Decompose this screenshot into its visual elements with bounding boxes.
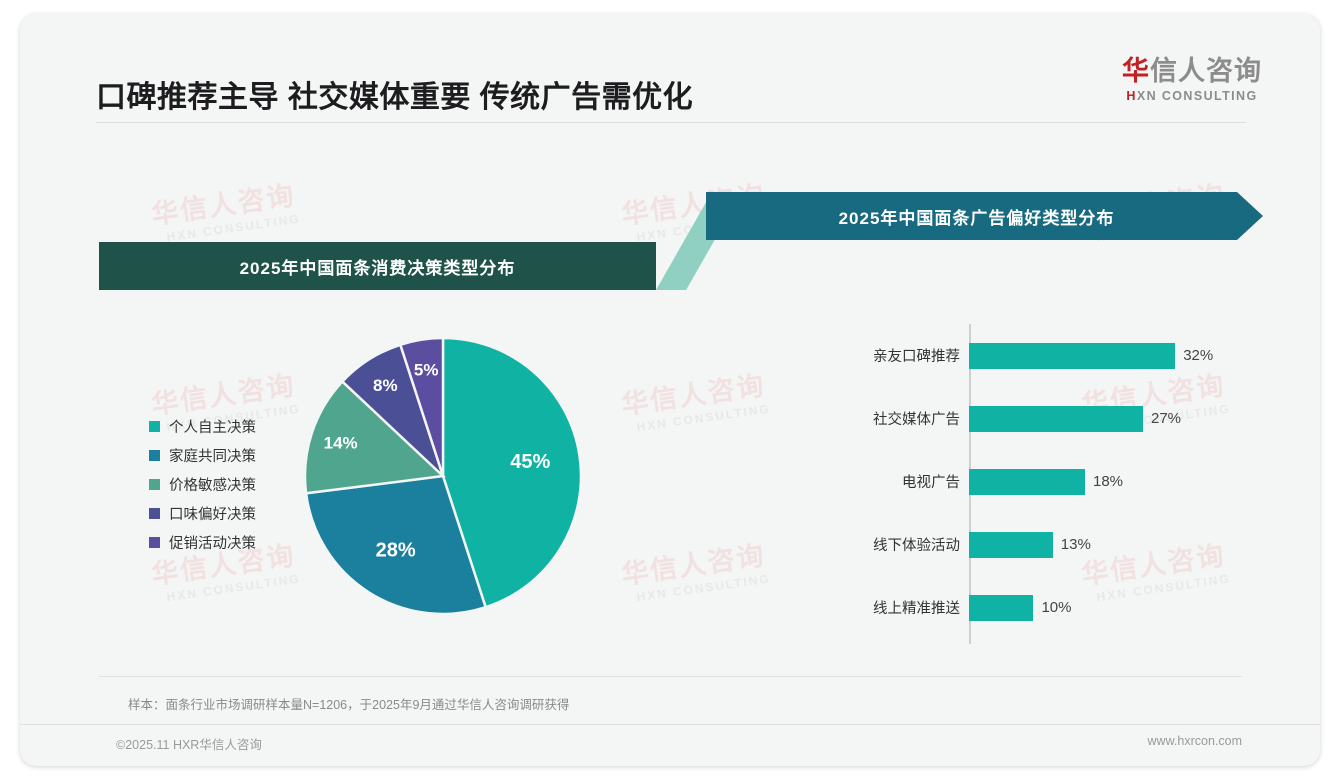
pie-chart-panel: 个人自主决策 家庭共同决策 价格敏感决策 口味偏好决策 促销活动决策: [99, 314, 659, 654]
footer-website: www.hxrcon.com: [1148, 734, 1242, 748]
brand-logo: 华信人咨询 HXN CONSULTING: [1122, 58, 1262, 103]
pie-chart-svg: 45%28%14%8%5%: [303, 336, 583, 616]
watermark: 华信人咨询 HXN CONSULTING: [148, 182, 302, 245]
footer-divider: [20, 724, 1320, 725]
bar-row: 电视广告 18%: [820, 450, 1260, 513]
legend-swatch-icon: [149, 508, 160, 519]
bar-value-label: 27%: [1151, 410, 1181, 427]
logo-chinese-accent: 华: [1122, 56, 1150, 86]
logo-chinese: 华信人咨询: [1122, 58, 1262, 85]
bar-chart-panel: 亲友口碑推荐 32% 社交媒体广告 27% 电视广告: [820, 310, 1260, 660]
bar-track: 10%: [969, 576, 1260, 639]
bar-fill: [969, 532, 1053, 558]
logo-english-rest: XN CONSULTING: [1137, 89, 1258, 103]
logo-english: HXN CONSULTING: [1122, 90, 1262, 103]
bar-category-label: 亲友口碑推荐: [820, 345, 969, 366]
source-note: 样本：面条行业市场调研样本量N=1206，于2025年9月通过华信人咨询调研获得: [128, 694, 569, 713]
bar-track: 13%: [969, 513, 1260, 576]
legend-item: 个人自主决策: [149, 412, 329, 441]
legend-label: 个人自主决策: [169, 416, 256, 437]
legend-item: 促销活动决策: [149, 528, 329, 557]
bar-row: 线下体验活动 13%: [820, 513, 1260, 576]
legend-label: 口味偏好决策: [169, 503, 256, 524]
banner-right-title: 2025年中国面条广告偏好类型分布: [839, 204, 1115, 229]
bar-row: 亲友口碑推荐 32%: [820, 324, 1260, 387]
legend-item: 价格敏感决策: [149, 470, 329, 499]
legend-label: 价格敏感决策: [169, 474, 256, 495]
footer-copyright: ©2025.11 HXR华信人咨询: [116, 734, 262, 753]
bar-fill: [969, 595, 1033, 621]
bar-row: 线上精准推送 10%: [820, 576, 1260, 639]
legend-label: 促销活动决策: [169, 532, 256, 553]
legend-swatch-icon: [149, 421, 160, 432]
banner-left: 2025年中国面条消费决策类型分布: [99, 242, 656, 290]
slide-card: 华信人咨询 HXN CONSULTING 华信人咨询 HXN CONSULTIN…: [20, 14, 1320, 766]
bar-value-label: 13%: [1061, 536, 1091, 553]
bar-category-label: 线下体验活动: [820, 534, 969, 555]
legend-label: 家庭共同决策: [169, 445, 256, 466]
bar-fill: [969, 469, 1085, 495]
pie-chart: 45%28%14%8%5%: [303, 336, 583, 616]
bar-value-label: 32%: [1183, 347, 1213, 364]
banner-right: 2025年中国面条广告偏好类型分布: [706, 192, 1263, 240]
logo-chinese-rest: 信人咨询: [1150, 56, 1262, 86]
bar-track: 32%: [969, 324, 1260, 387]
bar-row: 社交媒体广告 27%: [820, 387, 1260, 450]
bar-fill: [969, 406, 1143, 432]
legend-item: 家庭共同决策: [149, 441, 329, 470]
bar-track: 27%: [969, 387, 1260, 450]
slide-root: 华信人咨询 HXN CONSULTING 华信人咨询 HXN CONSULTIN…: [0, 0, 1340, 780]
legend-item: 口味偏好决策: [149, 499, 329, 528]
bar-value-label: 18%: [1093, 473, 1123, 490]
bar-value-label: 10%: [1041, 599, 1071, 616]
legend-swatch-icon: [149, 450, 160, 461]
bar-category-label: 线上精准推送: [820, 597, 969, 618]
banner-left-title: 2025年中国面条消费决策类型分布: [240, 254, 516, 279]
pie-slice-label: 28%: [376, 540, 416, 562]
slide-header: 口碑推荐主导 社交媒体重要 传统广告需优化 华信人咨询 HXN CONSULTI…: [20, 14, 1320, 126]
bar-chart-rows: 亲友口碑推荐 32% 社交媒体广告 27% 电视广告: [820, 324, 1260, 639]
pie-slice-label: 45%: [510, 451, 550, 473]
header-divider: [96, 122, 1246, 123]
page-title: 口碑推荐主导 社交媒体重要 传统广告需优化: [96, 72, 693, 116]
pie-slice-label: 8%: [373, 376, 398, 395]
source-divider: [99, 676, 1242, 677]
bar-fill: [969, 343, 1175, 369]
bar-category-label: 电视广告: [820, 471, 969, 492]
watermark-en: HXN CONSULTING: [166, 213, 301, 244]
bar-category-label: 社交媒体广告: [820, 408, 969, 429]
pie-slice-label: 5%: [414, 361, 439, 380]
pie-legend: 个人自主决策 家庭共同决策 价格敏感决策 口味偏好决策 促销活动决策: [149, 412, 329, 557]
legend-swatch-icon: [149, 537, 160, 548]
legend-swatch-icon: [149, 479, 160, 490]
watermark-cn: 华信人咨询: [148, 182, 299, 229]
logo-english-accent: H: [1126, 89, 1136, 103]
pie-slice-label: 14%: [324, 434, 358, 453]
bar-track: 18%: [969, 450, 1260, 513]
